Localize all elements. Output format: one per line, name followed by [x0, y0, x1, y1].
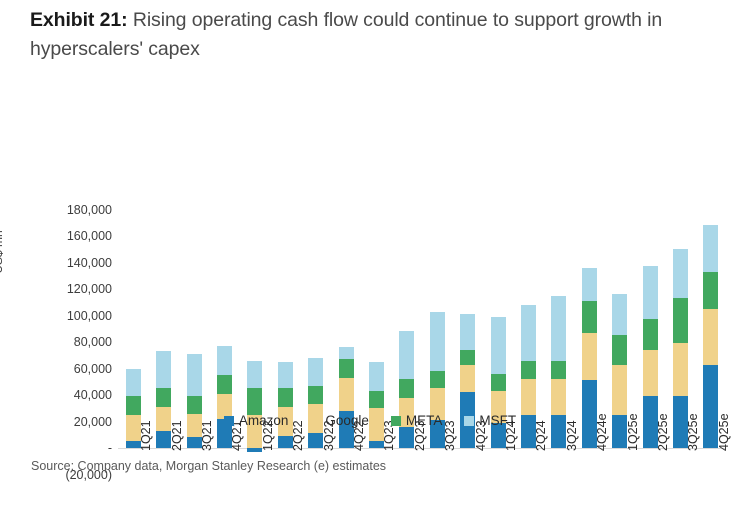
bar-segment-meta: [703, 272, 718, 309]
bar-segment-msft: [399, 331, 414, 379]
bar-segment-google: [521, 379, 536, 415]
bar-segment-meta: [673, 298, 688, 343]
bar-segment-msft: [156, 351, 171, 388]
y-axis-tick-label: 60,000: [74, 362, 112, 376]
y-axis-tick-label: 180,000: [67, 203, 112, 217]
bar-segment-meta: [217, 375, 232, 394]
bar-segment-msft: [612, 294, 627, 335]
bar-segment-google: [612, 365, 627, 415]
bar-segment-msft: [247, 361, 262, 389]
bar-segment-meta: [369, 391, 384, 408]
y-axis-tick-label: 120,000: [67, 282, 112, 296]
y-axis-tick-label: 80,000: [74, 335, 112, 349]
bar-segment-msft: [308, 358, 323, 386]
bar-segment-meta: [399, 379, 414, 398]
bar-segment-meta: [612, 335, 627, 364]
bar-segment-amazon: [156, 431, 171, 448]
bar-segment-meta: [551, 361, 566, 380]
bar-segment-google: [703, 309, 718, 365]
legend-label: Google: [325, 413, 369, 428]
bar-segment-msft: [703, 225, 718, 271]
bar-segment-msft: [369, 362, 384, 391]
legend-label: META: [406, 413, 443, 428]
y-axis-tick-label: -: [108, 441, 112, 455]
bar-segment-msft: [339, 347, 354, 359]
legend-item-amazon[interactable]: Amazon: [224, 413, 289, 428]
bar-segment-msft: [430, 312, 445, 372]
bar-segment-meta: [460, 350, 475, 365]
legend-item-meta[interactable]: META: [391, 413, 443, 428]
bar-segment-amazon: [308, 433, 323, 448]
exhibit-number: Exhibit 21:: [30, 9, 128, 31]
legend-label: Amazon: [239, 413, 289, 428]
bar-segment-meta: [247, 388, 262, 415]
legend-swatch-icon: [310, 416, 320, 426]
legend-swatch-icon: [391, 416, 401, 426]
chart-legend: AmazonGoogleMETAMSFT: [0, 413, 740, 428]
bar-segment-meta: [430, 371, 445, 388]
bar-segment-google: [460, 365, 475, 393]
y-axis-tick-label: 160,000: [67, 229, 112, 243]
legend-swatch-icon: [464, 416, 474, 426]
bar-segment-msft: [126, 369, 141, 397]
bar-segment-google: [643, 350, 658, 396]
bar-segment-meta: [308, 386, 323, 405]
bar-segment-msft: [551, 296, 566, 361]
bar-segment-msft: [673, 249, 688, 298]
source-note: Source: Company data, Morgan Stanley Res…: [31, 459, 386, 473]
y-axis-tick-label: 140,000: [67, 256, 112, 270]
bar-segment-msft: [217, 346, 232, 375]
page-title: Exhibit 21: Rising operating cash flow c…: [30, 6, 722, 64]
stacked-bar-chart: US$ mn 180,000160,000140,000120,000100,0…: [0, 95, 740, 395]
bar-segment-msft: [643, 266, 658, 319]
bar-segment-meta: [339, 359, 354, 378]
bar-segment-msft: [187, 354, 202, 396]
bar-segment-meta: [187, 396, 202, 413]
legend-swatch-icon: [224, 416, 234, 426]
bar-segment-msft: [278, 362, 293, 389]
bar-segment-msft: [491, 317, 506, 374]
bar-segment-msft: [582, 268, 597, 301]
y-axis-tick-label: 100,000: [67, 309, 112, 323]
legend-item-google[interactable]: Google: [310, 413, 369, 428]
legend-item-msft[interactable]: MSFT: [464, 413, 516, 428]
bar-segment-google: [339, 378, 354, 411]
bar-segment-meta: [156, 388, 171, 407]
bar-segment-meta: [521, 361, 536, 380]
bar-segment-google: [582, 333, 597, 381]
y-axis-tick-label: 40,000: [74, 388, 112, 402]
bar-segment-meta: [643, 319, 658, 349]
bar-segment-google: [673, 343, 688, 396]
bar-segment-msft: [521, 305, 536, 361]
legend-label: MSFT: [479, 413, 516, 428]
y-axis-ticks: 180,000160,000140,000120,000100,00080,00…: [0, 95, 112, 395]
bar-segment-google: [551, 379, 566, 415]
bar-segment-meta: [278, 388, 293, 407]
bar-segment-meta: [582, 301, 597, 333]
bar-segment-meta: [491, 374, 506, 391]
bar-segment-msft: [460, 314, 475, 350]
